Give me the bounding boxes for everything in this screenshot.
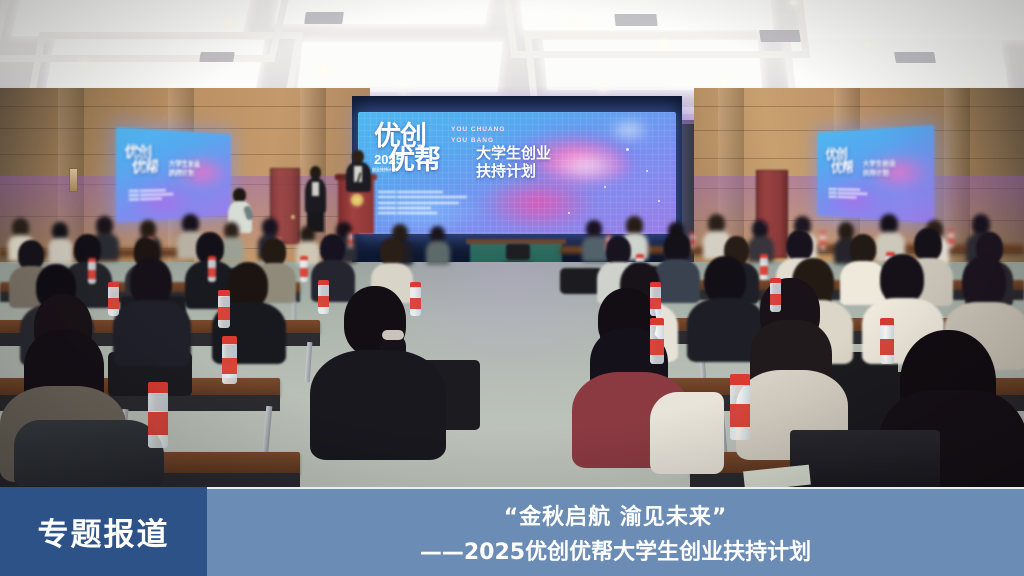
bag-on-desk	[14, 420, 164, 486]
screen-right-logo2: 优帮	[831, 161, 853, 174]
water-bottle	[730, 374, 750, 440]
screen-right-org	[829, 188, 867, 201]
screen-left-sub2: 扶持计划	[169, 170, 195, 178]
water-bottle	[88, 258, 96, 284]
screen-pinyin-line2: YOU BANG	[451, 137, 494, 144]
water-bottle	[222, 336, 237, 384]
led-screen-left: 优创 优帮 大学生创业 扶持计划	[116, 127, 231, 223]
water-bottle	[148, 382, 168, 448]
air-vent	[304, 12, 344, 24]
banner-headline: “金秋启航 渝见未来”	[504, 499, 728, 531]
screen-left-logo2: 优帮	[132, 160, 158, 174]
water-bottle	[218, 290, 230, 328]
water-bottle	[300, 256, 308, 282]
banner-tag-block: 专题报道	[0, 487, 207, 576]
screen-left-sub1: 大学生创业	[169, 161, 201, 169]
screen-organizer-block	[378, 190, 467, 216]
air-vent	[199, 52, 235, 62]
led-screen-main: 优创 优帮 2025 创业扶持计划 YOU CHUANG YOU BANG 大学…	[358, 112, 676, 234]
water-bottle	[770, 278, 781, 312]
water-bottle	[410, 282, 421, 316]
banner-subline: ——2025优创优帮大学生创业扶持计划	[420, 534, 811, 566]
air-vent	[894, 52, 936, 63]
screen-right-sub2: 扶持计划	[863, 170, 889, 178]
laptop	[790, 430, 940, 487]
screen-subtitle-line2: 扶持计划	[476, 164, 536, 180]
water-bottle	[650, 282, 661, 316]
screenshot-root: 优创 优帮 2025 创业扶持计划 YOU CHUANG YOU BANG 大学…	[0, 0, 1024, 576]
led-screen-right: 优创 优帮 大学生创业 扶持计划	[817, 125, 934, 223]
air-vent	[759, 30, 801, 42]
water-bottle	[318, 280, 329, 314]
water-bottle	[108, 282, 119, 316]
banner-tag-label: 专题报道	[38, 509, 170, 554]
caption-banner: 专题报道 “金秋启航 渝见未来” ——2025优创优帮大学生创业扶持计划	[0, 487, 1024, 576]
screen-subtitle-line1: 大学生创业	[476, 146, 551, 162]
water-bottle	[880, 318, 894, 364]
screen-pinyin-line1: YOU CHUANG	[451, 126, 505, 133]
water-bottle	[760, 254, 768, 280]
screen-year-sub: 创业扶持计划	[372, 167, 396, 173]
air-vent	[614, 14, 657, 26]
banner-text-block: “金秋启航 渝见未来” ——2025优创优帮大学生创业扶持计划	[207, 489, 1024, 576]
screen-right-sub1: 大学生创业	[863, 161, 896, 169]
wall-sconce	[69, 168, 78, 192]
water-bottle	[208, 256, 216, 282]
water-bottle	[650, 318, 664, 364]
podium-emblem	[351, 194, 363, 206]
event-photo: 优创 优帮 2025 创业扶持计划 YOU CHUANG YOU BANG 大学…	[0, 0, 1024, 487]
screen-left-org	[129, 189, 173, 203]
screen-year: 2025	[374, 152, 403, 167]
